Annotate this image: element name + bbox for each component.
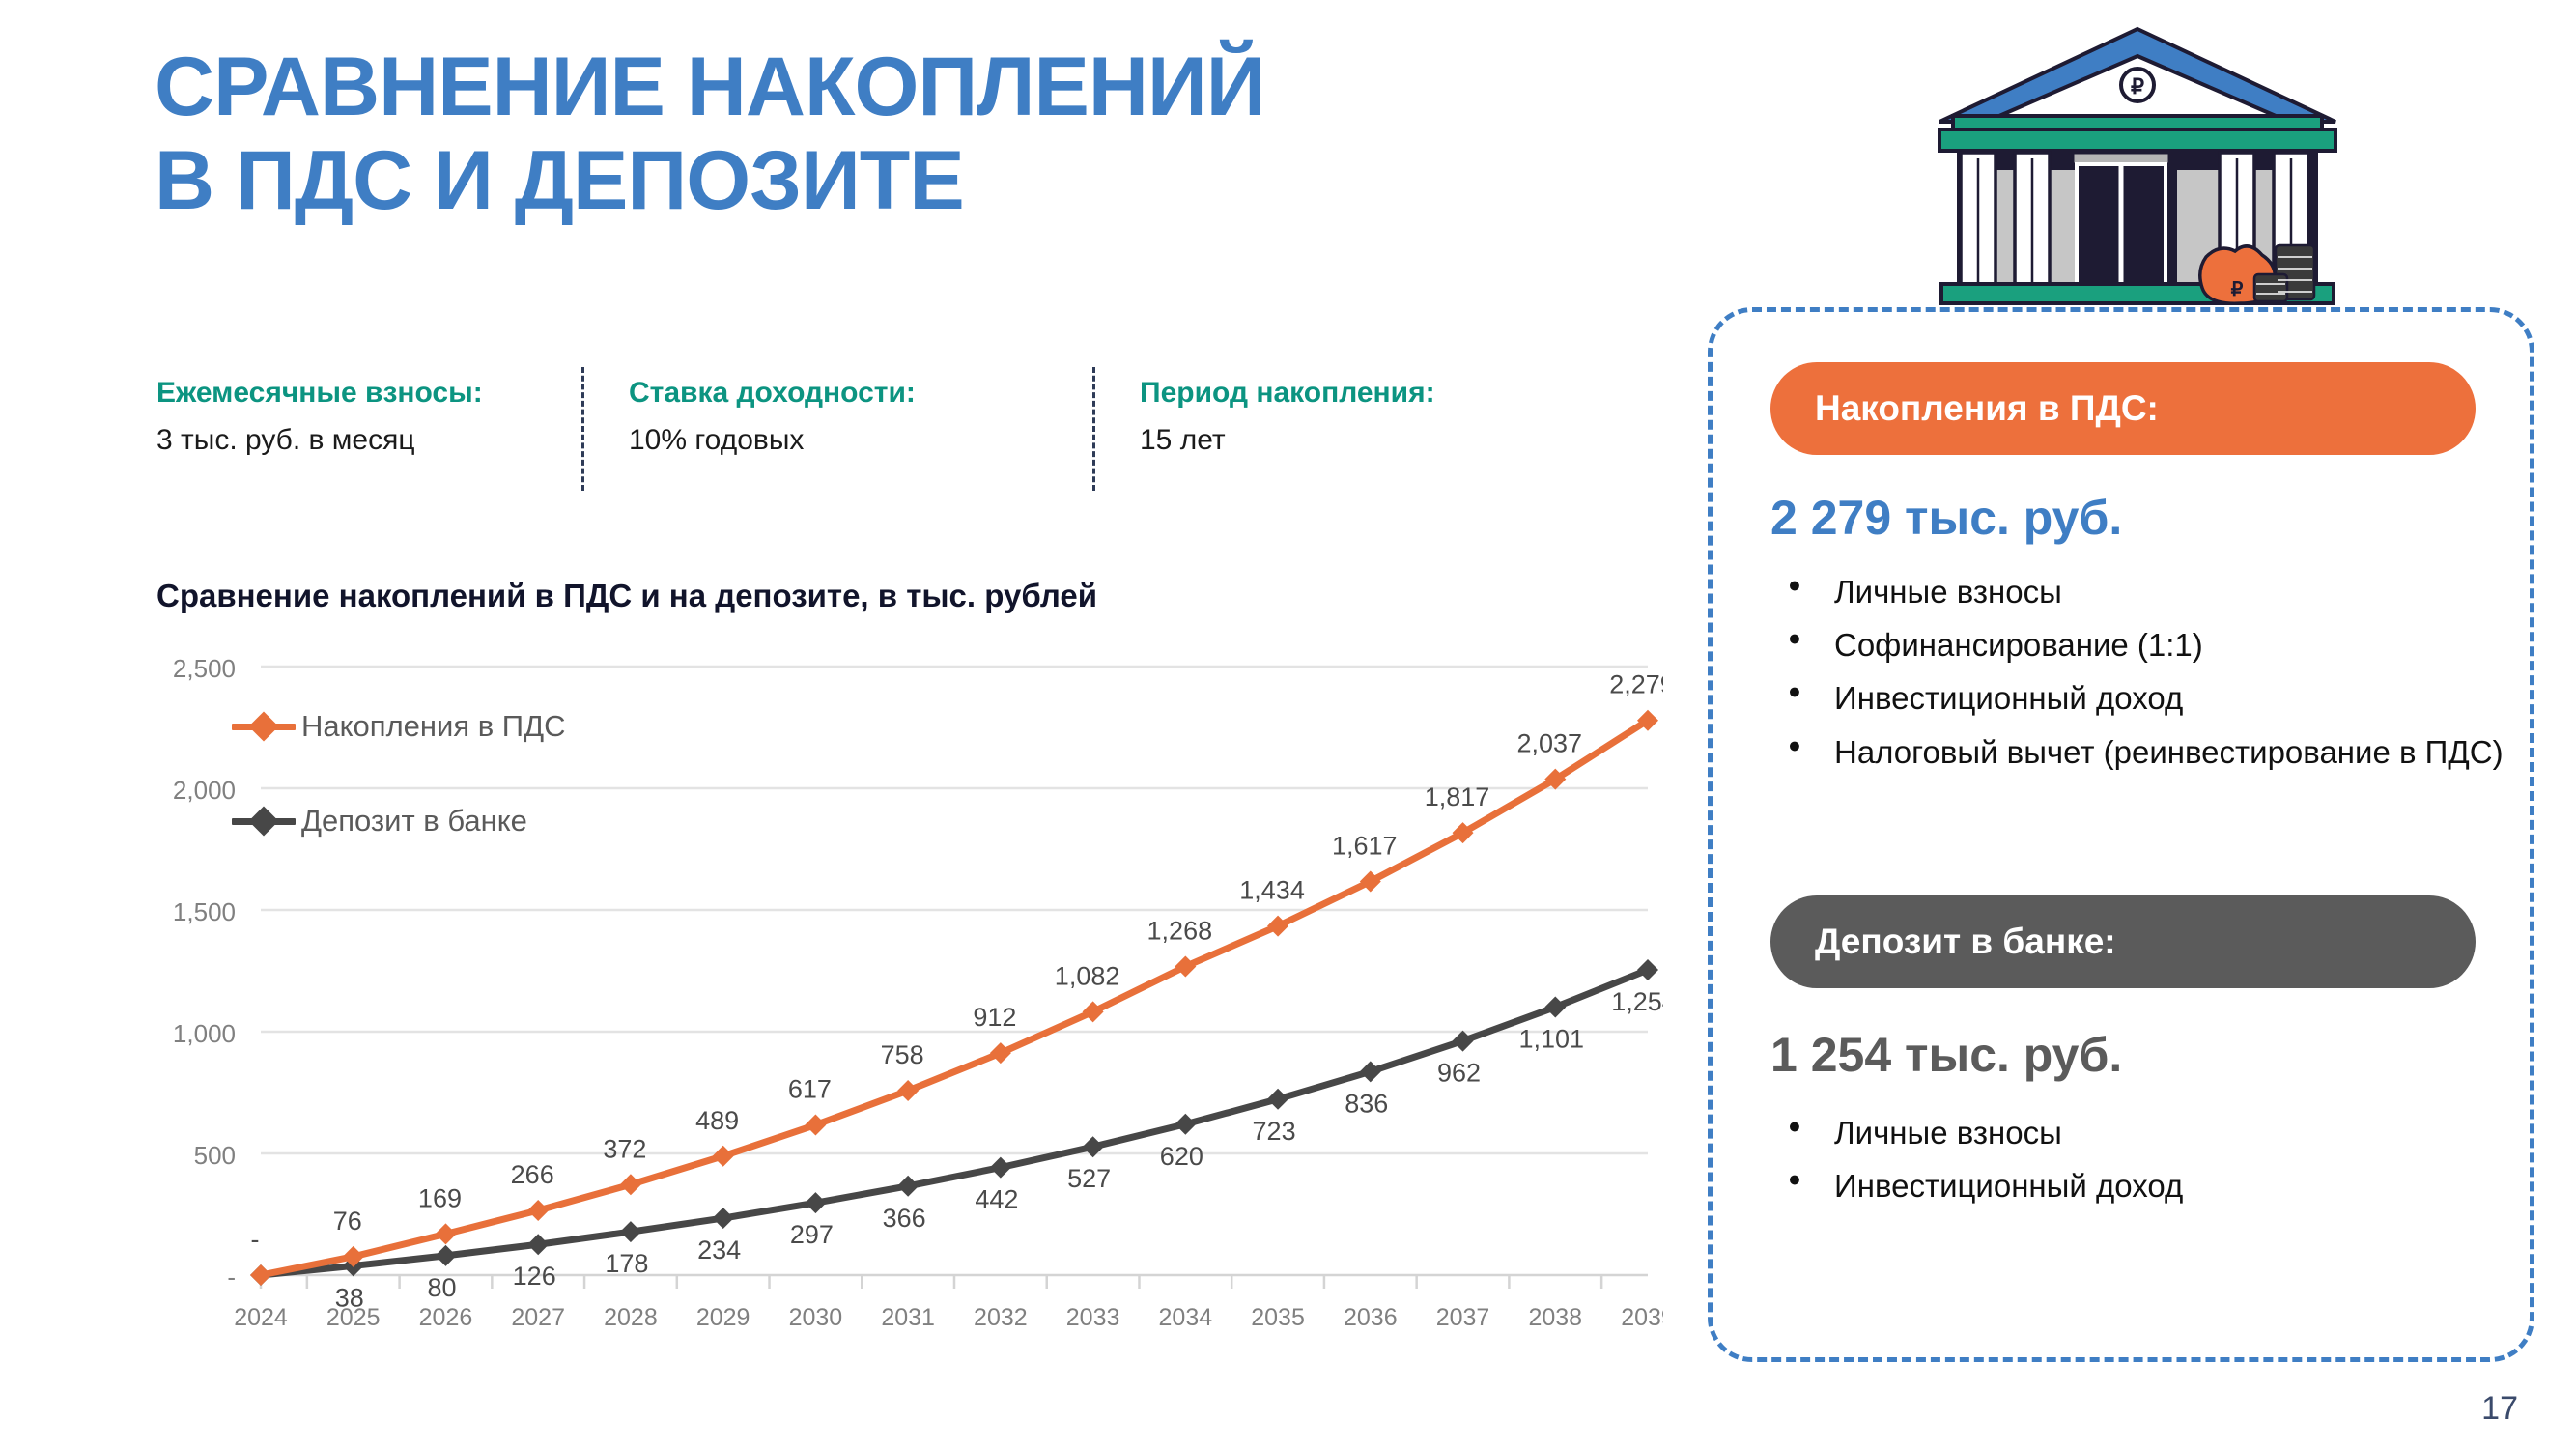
series-marker [897, 1176, 919, 1197]
data-label-pds: 1,434 [1239, 876, 1305, 905]
series-marker [805, 1115, 826, 1136]
data-label-deposit: 962 [1437, 1059, 1481, 1088]
bank-building-icon: ₽ [1930, 8, 2345, 317]
series-marker [1453, 1031, 1474, 1052]
data-label-pds: 617 [788, 1075, 832, 1104]
stats-bar: Ежемесячные взносы: 3 тыс. руб. в месяц … [156, 375, 1663, 510]
series-marker [435, 1245, 456, 1266]
y-tick-label: 1,500 [173, 897, 236, 926]
deposit-amount: 1 254 тыс. руб. [1770, 1027, 2122, 1083]
series-marker [1544, 997, 1566, 1018]
data-label-deposit: 723 [1253, 1117, 1296, 1146]
series-marker [990, 1042, 1011, 1064]
x-tick-label: 2033 [1066, 1304, 1120, 1331]
stat-value: 15 лет [1140, 421, 1561, 459]
stat-monthly-contribution: Ежемесячные взносы: 3 тыс. руб. в месяц [156, 375, 581, 510]
data-label-deposit: 234 [697, 1236, 741, 1264]
deposit-pill-header: Депозит в банке: [1770, 895, 2476, 988]
deposit-benefits-list: Личные взносыИнвестиционный доход [1778, 1112, 2522, 1218]
data-label-deposit: 178 [605, 1249, 648, 1278]
series-marker [897, 1080, 919, 1101]
series-marker [713, 1146, 734, 1167]
y-tick-label: - [227, 1263, 236, 1292]
data-label-deposit: 620 [1160, 1142, 1203, 1171]
stat-value: 10% годовых [629, 421, 1060, 459]
pds-pill-label: Накопления в ПДС: [1815, 388, 2159, 429]
list-item: Инвестиционный доход [1778, 677, 2522, 719]
pds-benefits-list: Личные взносыСофинансирование (1:1)Инвес… [1778, 571, 2522, 784]
series-marker [250, 1264, 271, 1286]
series-marker [1267, 1089, 1288, 1110]
data-label-pds: 1,268 [1147, 916, 1213, 945]
series-marker [713, 1207, 734, 1229]
list-item: Личные взносы [1778, 1112, 2522, 1153]
x-tick-label: 2027 [511, 1304, 565, 1331]
x-tick-label: 2032 [974, 1304, 1028, 1331]
page-number: 17 [2481, 1390, 2518, 1428]
series-marker [620, 1174, 641, 1195]
page-title: СРАВНЕНИЕ НАКОПЛЕНИЙ В ПДС И ДЕПОЗИТЕ [155, 41, 1719, 228]
data-label-pds: 2,037 [1516, 729, 1582, 758]
y-tick-label: 2,500 [173, 654, 236, 683]
data-label-deposit: 1,254 [1611, 987, 1663, 1016]
x-tick-label: 2028 [604, 1304, 658, 1331]
data-label-deposit: 80 [427, 1273, 456, 1302]
series-marker [527, 1200, 549, 1221]
x-tick-label: 2031 [881, 1304, 935, 1331]
chart-title: Сравнение накоплений в ПДС и на депозите… [156, 578, 1097, 614]
slide: СРАВНЕНИЕ НАКОПЛЕНИЙ В ПДС И ДЕПОЗИТЕ Еж… [0, 0, 2576, 1449]
savings-comparison-chart: -5001,0001,5002,0002,5002024202520262027… [156, 649, 1663, 1364]
x-tick-label: 2039 [1621, 1304, 1663, 1331]
stat-divider-2 [1092, 367, 1095, 491]
series-marker [1175, 955, 1196, 977]
data-label-pds: 372 [603, 1134, 646, 1163]
data-label-pds: 169 [418, 1183, 462, 1212]
x-tick-label: 2029 [696, 1304, 750, 1331]
data-label-pds: 2,279 [1609, 670, 1663, 699]
series-marker [1360, 1061, 1381, 1082]
data-label-deposit: 836 [1345, 1089, 1388, 1118]
stat-yield-rate: Ставка доходности: 10% годовых [629, 375, 1092, 510]
x-tick-label: 2035 [1251, 1304, 1305, 1331]
svg-text:₽: ₽ [2231, 279, 2244, 300]
data-label-deposit: 297 [790, 1220, 834, 1249]
data-label-pds: 1,617 [1332, 832, 1398, 861]
data-label-pds: 76 [333, 1207, 362, 1236]
x-tick-label: 2038 [1528, 1304, 1582, 1331]
series-marker [1175, 1114, 1196, 1135]
series-marker [1083, 1001, 1104, 1022]
data-label-deposit: 38 [335, 1283, 364, 1312]
pds-amount: 2 279 тыс. руб. [1770, 490, 2122, 546]
stat-label: Период накопления: [1140, 375, 1561, 412]
stat-divider-1 [581, 367, 584, 491]
series-marker [527, 1234, 549, 1255]
x-tick-label: 2034 [1159, 1304, 1213, 1331]
data-label-deposit: 366 [883, 1204, 926, 1233]
data-label-pds: 758 [881, 1040, 924, 1069]
data-label-pds: - [251, 1225, 260, 1254]
pds-pill-header: Накопления в ПДС: [1770, 362, 2476, 455]
data-label-deposit: 442 [975, 1185, 1018, 1214]
series-marker [435, 1223, 456, 1244]
series-marker [620, 1221, 641, 1242]
x-tick-label: 2036 [1344, 1304, 1398, 1331]
x-tick-label: 2026 [419, 1304, 473, 1331]
list-item: Налоговый вычет (реинвестирование в ПДС) [1778, 731, 2522, 773]
y-tick-label: 1,000 [173, 1019, 236, 1048]
stat-label: Ставка доходности: [629, 375, 1060, 412]
data-label-deposit: 1,101 [1518, 1025, 1584, 1054]
summary-panel: Накопления в ПДС: 2 279 тыс. руб. Личные… [1708, 307, 2534, 1362]
data-label-deposit: 527 [1067, 1164, 1111, 1193]
data-label-pds: 489 [695, 1106, 739, 1135]
deposit-pill-label: Депозит в банке: [1815, 922, 2116, 962]
svg-text:₽: ₽ [2131, 74, 2144, 99]
stat-label: Ежемесячные взносы: [156, 375, 549, 412]
series-marker [805, 1192, 826, 1213]
data-label-pds: 1,817 [1425, 782, 1490, 811]
list-item: Инвестиционный доход [1778, 1165, 2522, 1207]
stat-value: 3 тыс. руб. в месяц [156, 421, 549, 459]
data-label-pds: 1,082 [1055, 961, 1120, 990]
list-item: Личные взносы [1778, 571, 2522, 612]
list-item: Софинансирование (1:1) [1778, 624, 2522, 666]
x-tick-label: 2037 [1436, 1304, 1490, 1331]
series-marker [1267, 916, 1288, 937]
stat-accumulation-period: Период накопления: 15 лет [1140, 375, 1594, 510]
x-tick-label: 2024 [234, 1304, 288, 1331]
y-tick-label: 500 [194, 1141, 236, 1170]
data-label-pds: 266 [511, 1160, 554, 1189]
data-label-deposit: 126 [513, 1262, 556, 1291]
y-tick-label: 2,000 [173, 776, 236, 805]
title-line-1: СРАВНЕНИЕ НАКОПЛЕНИЙ [155, 41, 1719, 134]
x-tick-label: 2030 [789, 1304, 843, 1331]
title-line-2: В ПДС И ДЕПОЗИТЕ [155, 134, 1719, 228]
chart-canvas: -5001,0001,5002,0002,5002024202520262027… [156, 649, 1663, 1364]
series-marker [990, 1157, 1011, 1179]
series-marker [1637, 959, 1658, 980]
data-label-pds: 912 [973, 1003, 1016, 1032]
